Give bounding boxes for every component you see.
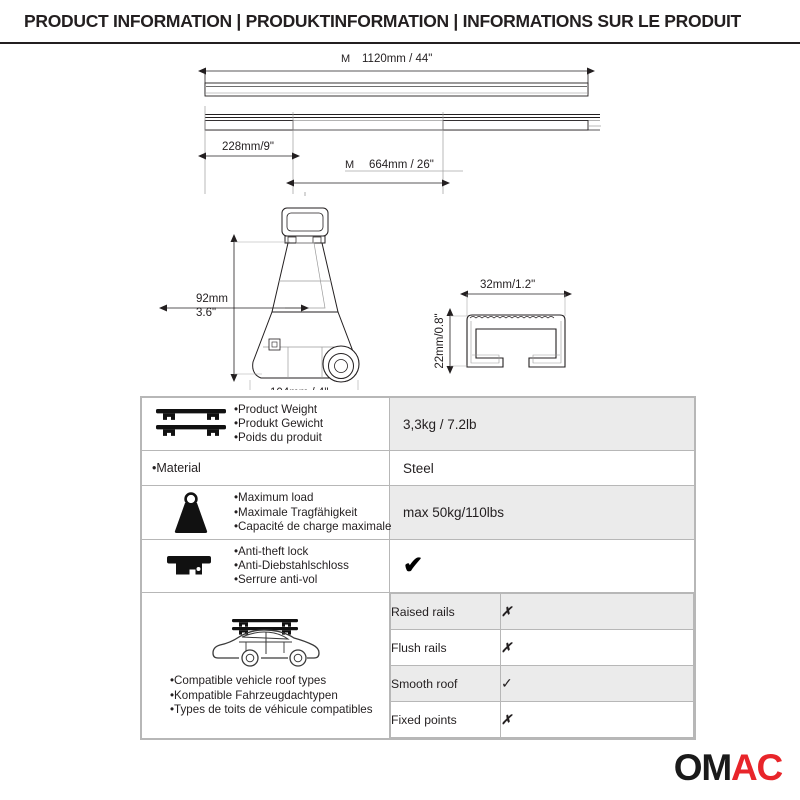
page-title: PRODUCT INFORMATION | PRODUKTINFORMATION…	[24, 11, 741, 32]
row-label-line: •Types de toits de véhicule compatibles	[170, 703, 383, 717]
foot-width-value: 104mm / 4"	[270, 387, 328, 390]
car-with-rack-icon	[148, 614, 383, 670]
roof-type-option-row: Raised rails ✗	[391, 594, 694, 630]
cross-icon: ✗	[501, 604, 512, 619]
crossbars-icon	[148, 406, 234, 442]
foot-spacing-dimension	[294, 171, 463, 183]
roof-type-option-row: Flush rails ✗	[391, 630, 694, 666]
row-value: 3,3kg / 7.2lb	[390, 398, 695, 451]
roof-type-name: Flush rails	[391, 630, 501, 666]
lock-foot-icon	[148, 550, 234, 582]
bar-plan-view	[205, 115, 601, 131]
row-label-line: •Anti-theft lock	[234, 545, 385, 559]
foot-detail-view	[253, 208, 359, 382]
roof-type-mark: ✓	[501, 666, 694, 702]
omac-logo: OMAC	[674, 749, 782, 786]
row-label-line: •Maximale Tragfähigkeit	[234, 506, 391, 520]
row-label-line: •Poids du produit	[234, 431, 385, 445]
logo-part-ac: AC	[731, 747, 782, 788]
row-label-line: •Anti-Diebstahlschloss	[234, 559, 385, 573]
bar-length-prefix: M	[341, 53, 350, 65]
foot-spacing-prefix: M	[345, 159, 354, 171]
row-label-line: •Serrure anti-vol	[234, 573, 385, 587]
roof-type-option-row: Smooth roof ✓	[391, 666, 694, 702]
row-label-line: •Compatible vehicle roof types	[170, 674, 383, 688]
logo-part-om: OM	[674, 747, 731, 788]
profile-width-value: 32mm/1.2"	[480, 279, 535, 291]
row-label-line: •Material	[152, 461, 201, 475]
table-row: •Anti-theft lock •Anti-Diebstahlschloss …	[142, 539, 695, 592]
roof-type-name: Fixed points	[391, 702, 501, 738]
table-row: •Maximum load •Maximale Tragfähigkeit •C…	[142, 486, 695, 539]
checkmark-glyph: ✔	[403, 552, 423, 579]
table-row: •Material Steel	[142, 451, 695, 486]
profile-cross-section	[467, 315, 565, 367]
roof-type-name: Raised rails	[391, 594, 501, 630]
foot-height-line2: 3.6"	[196, 307, 216, 319]
check-icon: ✓	[501, 675, 513, 691]
table-row-roof-types: •Compatible vehicle roof types •Kompatib…	[142, 593, 695, 739]
foot-spacing-value: 664mm / 26"	[369, 159, 434, 171]
foot-height-line1: 92mm	[196, 293, 228, 305]
bar-top-view	[205, 83, 588, 96]
row-label-group: •Product Weight •Produkt Gewicht •Poids …	[234, 403, 385, 445]
row-label-group: •Maximum load •Maximale Tragfähigkeit •C…	[234, 491, 391, 533]
cross-icon: ✗	[501, 640, 512, 655]
bar-length-value: 1120mm / 44"	[362, 53, 432, 65]
roof-type-option-row: Fixed points ✗	[391, 702, 694, 738]
row-label-line: •Maximum load	[234, 491, 391, 505]
cross-icon: ✗	[501, 712, 512, 727]
technical-drawing: M 1120mm / 44"	[0, 44, 800, 390]
row-label-line: •Produkt Gewicht	[234, 417, 385, 431]
foot-offset-value: 228mm/9"	[222, 141, 274, 153]
page-header: PRODUCT INFORMATION | PRODUKTINFORMATION…	[0, 0, 800, 44]
roof-types-options-table: Raised rails ✗ Flush rails ✗	[390, 593, 694, 738]
roof-type-mark: ✗	[501, 630, 694, 666]
row-value-check: ✔	[390, 539, 695, 592]
row-label-line: •Capacité de charge maximale	[234, 520, 391, 534]
table-row: •Product Weight •Produkt Gewicht •Poids …	[142, 398, 695, 451]
row-value: Steel	[390, 451, 695, 486]
roof-type-mark: ✗	[501, 594, 694, 630]
roof-type-mark: ✗	[501, 702, 694, 738]
row-value: max 50kg/110lbs	[390, 486, 695, 539]
row-label-group: •Anti-theft lock •Anti-Diebstahlschloss …	[234, 545, 385, 587]
row-label-line: •Kompatible Fahrzeugdachtypen	[170, 689, 383, 703]
specification-table: •Product Weight •Produkt Gewicht •Poids …	[140, 396, 696, 740]
profile-height-value: 22mm/0.8"	[434, 313, 446, 368]
profile-width-dimension	[467, 294, 565, 316]
roof-type-name: Smooth roof	[391, 666, 501, 702]
roof-types-label-group: •Compatible vehicle roof types •Kompatib…	[148, 674, 383, 717]
weight-icon	[148, 492, 234, 534]
row-label-line: •Product Weight	[234, 403, 385, 417]
profile-height-dimension	[450, 316, 468, 366]
